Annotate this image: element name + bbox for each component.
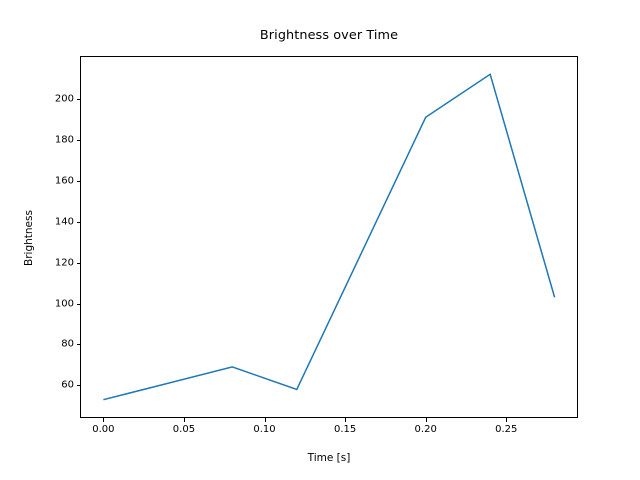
y-tick-mark [77, 385, 81, 386]
y-tick-mark [77, 140, 81, 141]
x-tick-label: 0.05 [173, 424, 195, 435]
x-tick-label: 0.15 [334, 424, 356, 435]
y-tick-mark [77, 99, 81, 100]
x-tick-mark [103, 418, 104, 422]
y-tick-label: 100 [55, 298, 74, 309]
x-axis-label: Time [s] [80, 452, 578, 464]
x-tick-mark [184, 418, 185, 422]
figure-canvas: Brightness over Time 0.000.050.100.150.2… [0, 0, 640, 480]
x-tick-mark [265, 418, 266, 422]
y-tick-mark [77, 304, 81, 305]
y-tick-mark [77, 263, 81, 264]
chart-title: Brightness over Time [80, 28, 578, 43]
y-axis-label: Brightness [22, 57, 36, 419]
y-tick-label: 80 [61, 339, 74, 350]
plot-area [80, 56, 578, 418]
y-tick-label: 140 [55, 216, 74, 227]
y-tick-mark [77, 222, 81, 223]
x-tick-label: 0.10 [253, 424, 275, 435]
x-tick-label: 0.25 [495, 424, 517, 435]
y-tick-mark [77, 181, 81, 182]
x-tick-mark [426, 418, 427, 422]
x-tick-mark [506, 418, 507, 422]
y-tick-label: 120 [55, 257, 74, 268]
x-tick-label: 0.00 [92, 424, 114, 435]
y-tick-label: 200 [55, 93, 74, 104]
y-tick-mark [77, 344, 81, 345]
y-tick-label: 160 [55, 175, 74, 186]
y-tick-label: 180 [55, 134, 74, 145]
y-tick-label: 60 [61, 380, 74, 391]
x-tick-label: 0.20 [415, 424, 437, 435]
data-line-brightness [103, 74, 554, 399]
x-tick-mark [345, 418, 346, 422]
